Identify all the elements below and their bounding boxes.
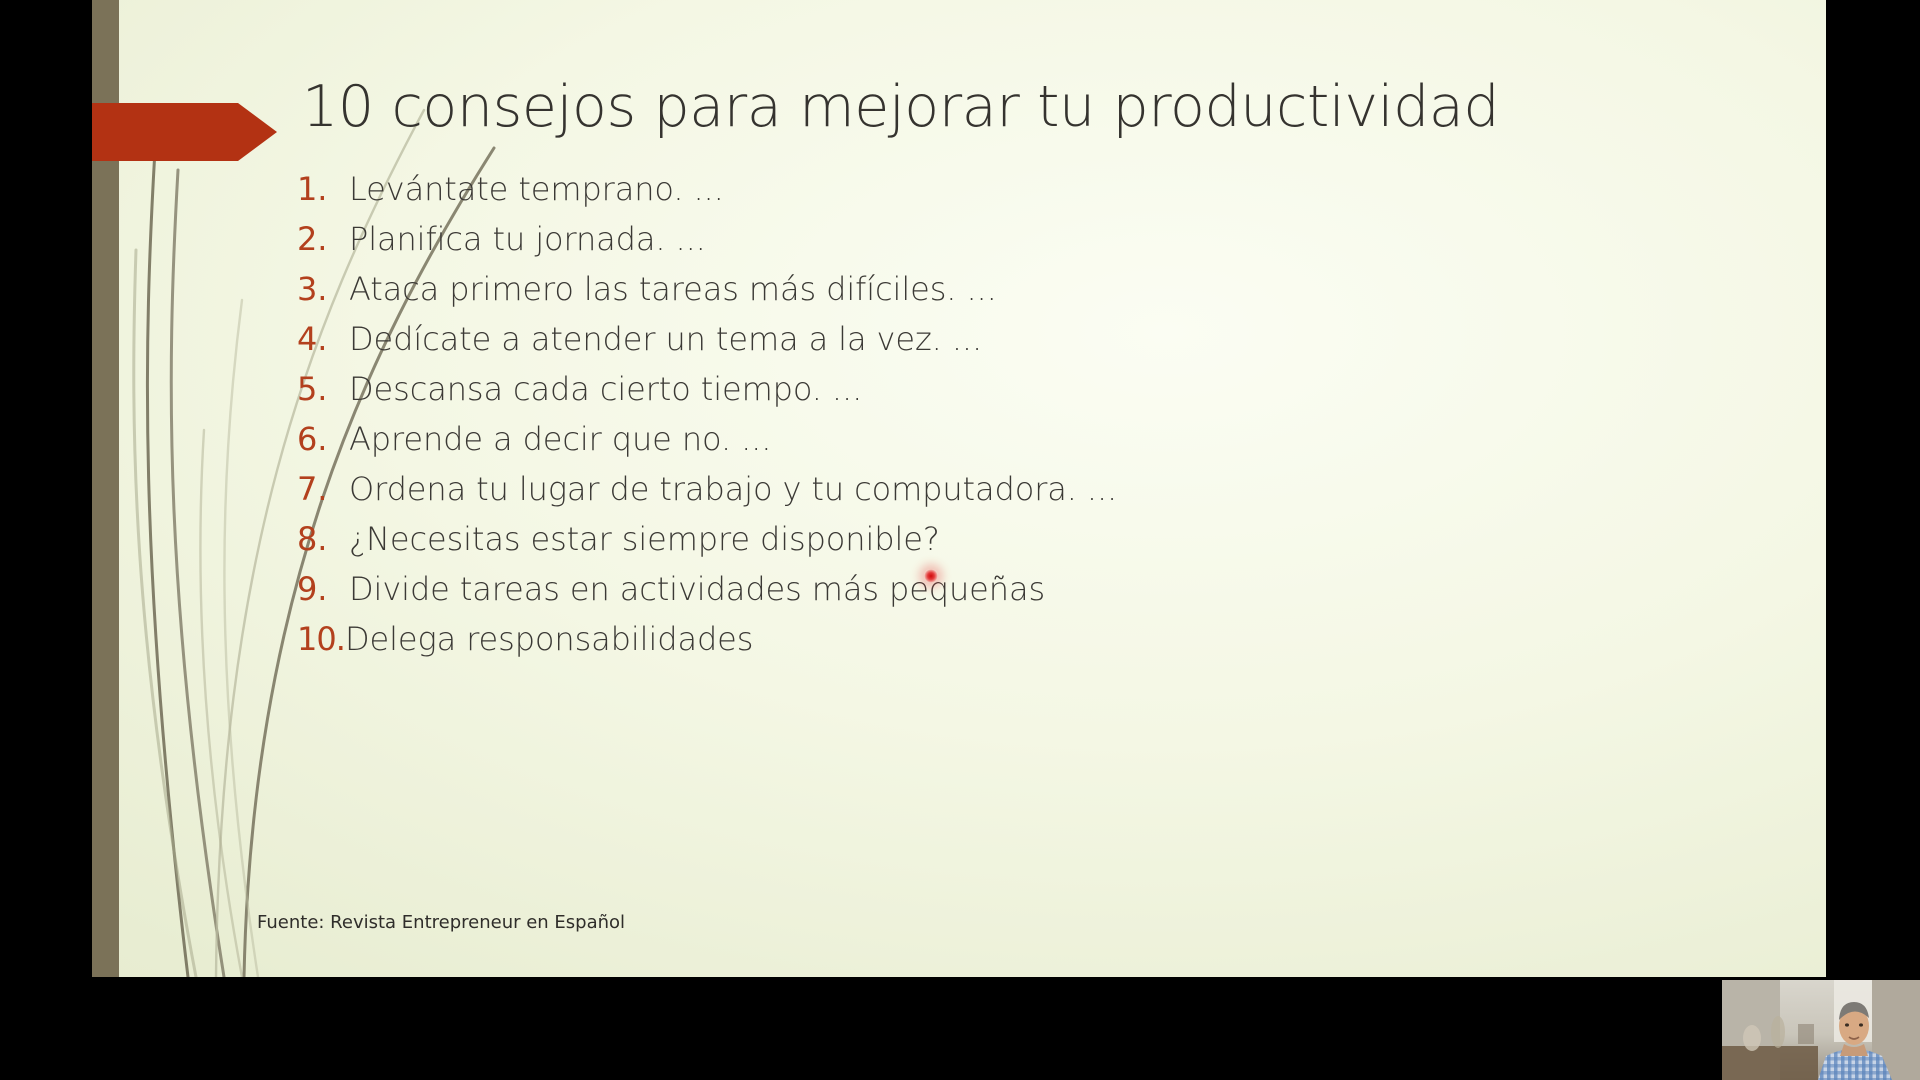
screen-share-stage: 10 consejos para mejorar tu productivida… <box>0 0 1920 1080</box>
list-item: 3. Ataca primero las tareas más difícile… <box>297 270 1717 320</box>
list-item-number: 1. <box>297 170 349 208</box>
list-item: 8. ¿Necesitas estar siempre disponible? <box>297 520 1717 570</box>
page-title: 10 consejos para mejorar tu productivida… <box>302 75 1802 141</box>
list-item-label: Descansa cada cierto tiempo. ... <box>349 370 862 408</box>
list-item: 5. Descansa cada cierto tiempo. ... <box>297 370 1717 420</box>
list-item-label: Planifica tu jornada. ... <box>349 220 706 258</box>
list-item-number: 7. <box>297 470 349 508</box>
list-item: 4. Dedícate a atender un tema a la vez. … <box>297 320 1717 370</box>
list-item: 2. Planifica tu jornada. ... <box>297 220 1717 270</box>
list-item-label: Dedícate a atender un tema a la vez. ... <box>349 320 982 358</box>
list-item-number: 2. <box>297 220 349 258</box>
title-chevron-banner <box>92 103 277 161</box>
list-item: 9. Divide tareas en actividades más pequ… <box>297 570 1717 620</box>
list-item-number: 6. <box>297 420 349 458</box>
list-item-number: 5. <box>297 370 349 408</box>
source-footnote: Fuente: Revista Entrepreneur en Español <box>257 912 625 933</box>
list-item-number: 4. <box>297 320 349 358</box>
presenter-webcam-feed[interactable] <box>1722 980 1920 1080</box>
list-item-label: Ordena tu lugar de trabajo y tu computad… <box>349 470 1117 508</box>
list-item-label: ¿Necesitas estar siempre disponible? <box>349 520 940 558</box>
list-item: 10. Delega responsabilidades <box>297 620 1717 670</box>
webcam-video-frame <box>1722 980 1920 1080</box>
list-item-number: 8. <box>297 520 349 558</box>
list-item-label: Ataca primero las tareas más difíciles. … <box>349 270 997 308</box>
list-item-number: 10. <box>297 620 345 658</box>
list-item-label: Divide tareas en actividades más pequeña… <box>349 570 1045 608</box>
list-item: 7. Ordena tu lugar de trabajo y tu compu… <box>297 470 1717 520</box>
list-item-number: 3. <box>297 270 349 308</box>
list-item-label: Aprende a decir que no. ... <box>349 420 771 458</box>
presentation-slide: 10 consejos para mejorar tu productivida… <box>92 0 1826 977</box>
list-item-number: 9. <box>297 570 349 608</box>
list-item-label: Delega responsabilidades <box>345 620 753 658</box>
tips-list: 1. Levántate temprano. ... 2. Planifica … <box>297 170 1717 670</box>
list-item: 1. Levántate temprano. ... <box>297 170 1717 220</box>
list-item: 6. Aprende a decir que no. ... <box>297 420 1717 470</box>
list-item-label: Levántate temprano. ... <box>349 170 724 208</box>
